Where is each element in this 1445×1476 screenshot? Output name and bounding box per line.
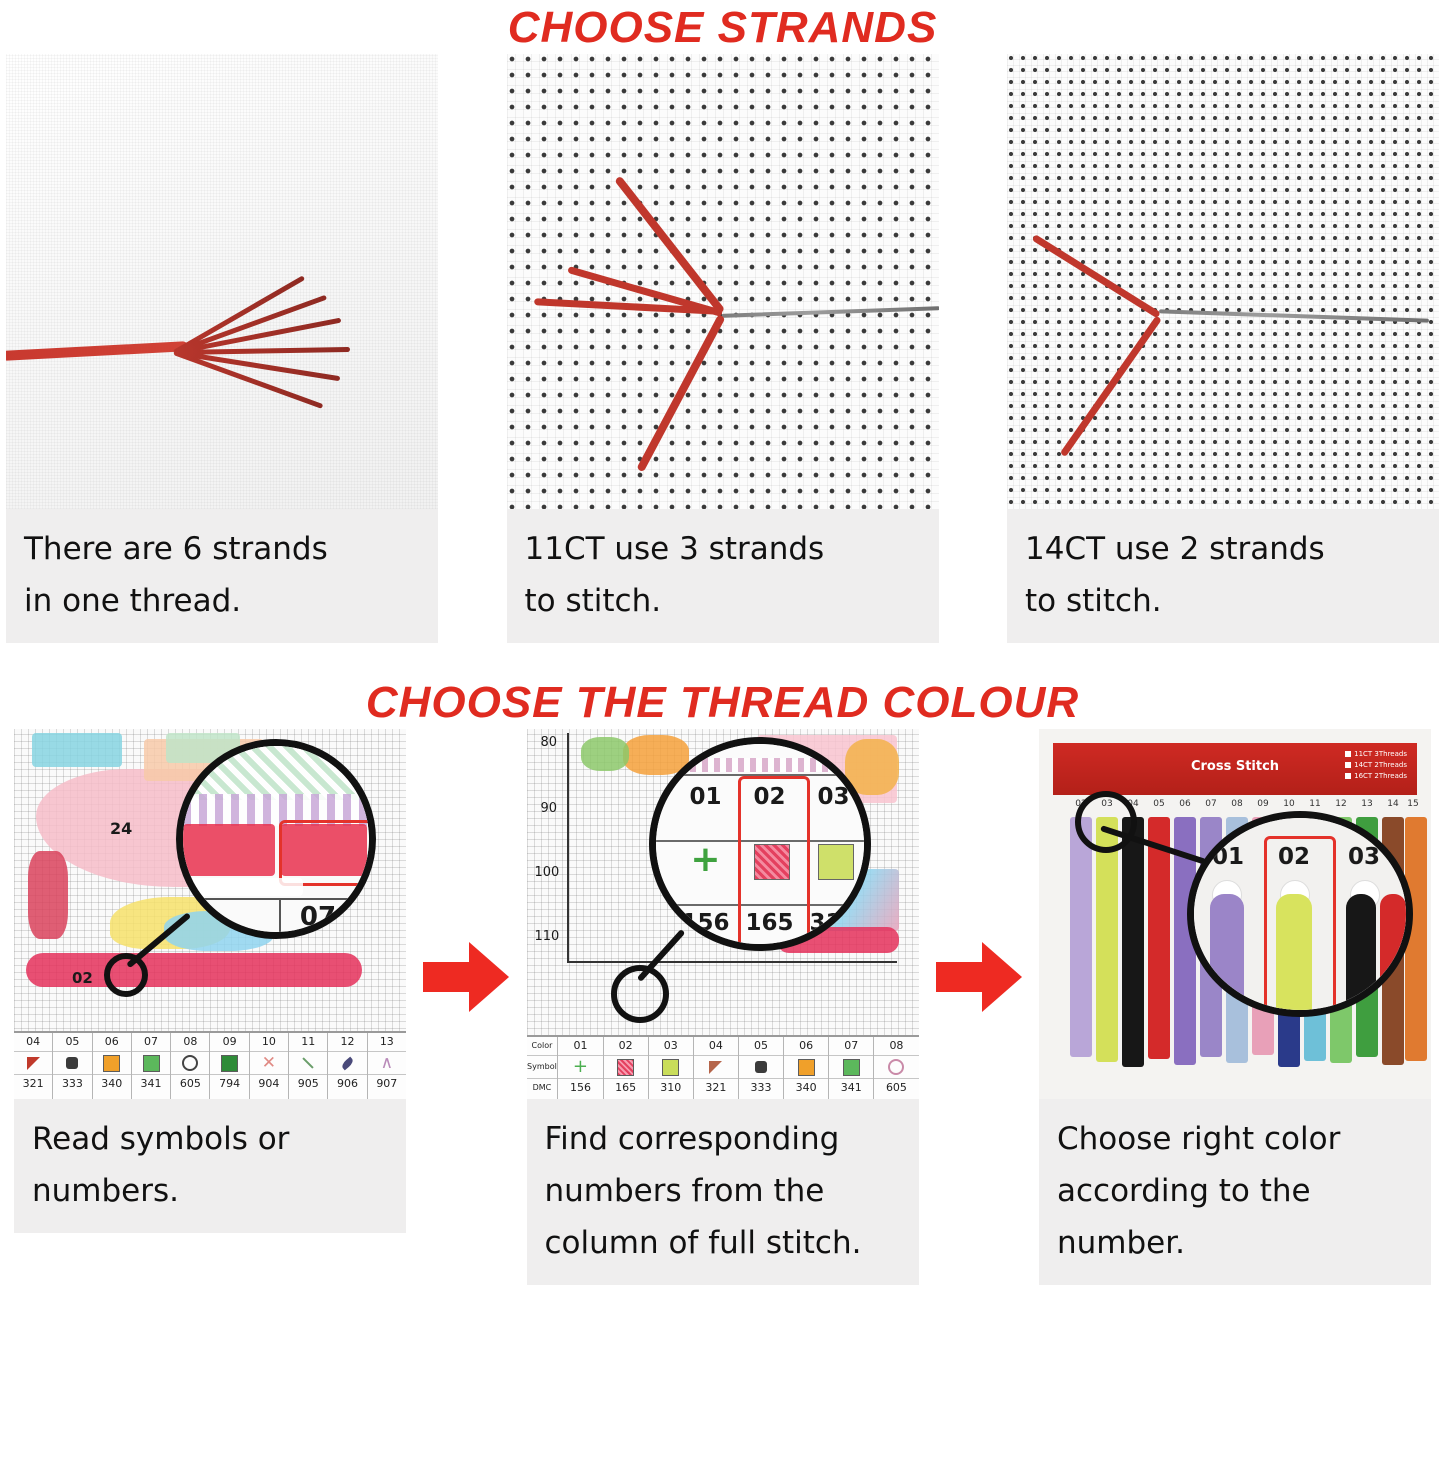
pattern-region-green xyxy=(581,737,629,771)
pattern-chart-symbols-photo: 24 02 07 04 321 xyxy=(14,729,406,1099)
thread-organizer-photo: Cross Stitch 11CT 3Threads 14CT 2Threads… xyxy=(1039,729,1431,1099)
caption-11ct: 11CT use 3 strands to stitch. xyxy=(507,509,939,643)
peg-number: 15 xyxy=(1401,799,1425,809)
legend-symbol-red-square-icon xyxy=(604,1056,648,1079)
chart-marker-02: 02 xyxy=(72,969,93,987)
plain-fabric-texture xyxy=(6,54,438,509)
legend-dmc: 310 xyxy=(649,1079,693,1097)
legend-symbol-triangle-icon xyxy=(694,1056,738,1079)
legend-dmc: 321 xyxy=(694,1079,738,1097)
caption-line-2: numbers from the xyxy=(545,1165,901,1217)
pattern-chart-numbers-photo: 80 90 100 110 01 02 03 + xyxy=(527,729,919,1099)
chart-marker-24: 24 xyxy=(110,819,132,838)
zoom-region-red-left xyxy=(183,824,275,876)
axis-label-90: 90 xyxy=(541,801,558,816)
caption-14ct: 14CT use 2 strands to stitch. xyxy=(1007,509,1439,643)
peg-number: 11 xyxy=(1303,799,1327,809)
legend-number: 13 xyxy=(368,1033,406,1052)
legend-row-label-dmc: DMC xyxy=(527,1079,558,1097)
card-read-symbols: 24 02 07 04 321 xyxy=(14,729,406,1233)
card-choose-colour: Cross Stitch 11CT 3Threads 14CT 2Threads… xyxy=(1039,729,1431,1285)
chart-x-axis xyxy=(567,961,897,963)
legend-column: 08 605 xyxy=(874,1037,918,1099)
legend-symbol-green-cross-icon: + xyxy=(558,1056,602,1079)
pattern-region-cyan xyxy=(32,733,122,767)
thread-skein xyxy=(1070,817,1092,1057)
card-find-numbers: 80 90 100 110 01 02 03 + xyxy=(527,729,919,1285)
peg-number: 05 xyxy=(1147,799,1171,809)
legend-dmc: 165 xyxy=(604,1079,648,1097)
checkbox-icon xyxy=(1345,762,1351,768)
legend-column: 04 321 xyxy=(694,1037,739,1099)
zoom-column-03: 03 xyxy=(806,784,862,810)
legend-column: 10 ✕ 904 xyxy=(250,1033,289,1099)
legend-number: 06 xyxy=(784,1037,828,1056)
legend-dmc: 906 xyxy=(328,1075,366,1093)
card-14ct: 14CT use 2 strands to stitch. xyxy=(1007,54,1439,643)
caption-line-1: 11CT use 3 strands xyxy=(525,523,921,575)
legend-row-label-symbol: Symbol xyxy=(527,1056,558,1079)
checkbox-icon xyxy=(1345,773,1351,779)
legend-dmc: 341 xyxy=(829,1079,873,1097)
peg-number: 07 xyxy=(1199,799,1223,809)
legend-dmc: 333 xyxy=(53,1075,91,1093)
thread-skein xyxy=(1122,817,1144,1067)
magnifier-lens: 01 02 03 xyxy=(1187,811,1413,1017)
card-six-strands: There are 6 strands in one thread. xyxy=(6,54,438,643)
caption-line-1: There are 6 strands xyxy=(24,523,420,575)
caption-find-numbers: Find corresponding numbers from the colu… xyxy=(527,1099,919,1285)
legend-symbol-triangle-icon xyxy=(14,1052,52,1075)
legend-number: 03 xyxy=(649,1037,693,1056)
legend-symbol-x-cross-icon: ✕ xyxy=(250,1052,288,1075)
legend-column: 08 605 xyxy=(171,1033,210,1099)
legend-number: 02 xyxy=(604,1037,648,1056)
legend-symbol-green-square-icon xyxy=(829,1056,873,1079)
legend-symbol-leaf-icon xyxy=(328,1052,366,1075)
legend-number: 06 xyxy=(93,1033,131,1052)
pattern-region-crimson xyxy=(28,851,68,939)
legend-column: 07 341 xyxy=(829,1037,874,1099)
check-label: 16CT 2Threads xyxy=(1354,772,1407,780)
chart-y-axis xyxy=(567,733,569,963)
zoom-dmc-156: 156 xyxy=(678,910,734,936)
legend-column: 06 340 xyxy=(784,1037,829,1099)
legend-column: 04 321 xyxy=(14,1033,53,1099)
zoom-column-03: 03 xyxy=(1338,844,1390,870)
legend-dmc: 904 xyxy=(250,1075,288,1093)
legend-number: 08 xyxy=(171,1033,209,1052)
legend-number: 07 xyxy=(132,1033,170,1052)
card-11ct: 11CT use 3 strands to stitch. xyxy=(507,54,939,643)
zoom-highlight-box xyxy=(279,820,376,886)
caption-read-symbols: Read symbols or numbers. xyxy=(14,1099,406,1233)
legend-symbol-yellow-square-icon xyxy=(649,1056,693,1079)
legend-column: 06 340 xyxy=(93,1033,132,1099)
zoom-symbol-green-cross-icon: + xyxy=(678,842,734,878)
magnifier-lens: 01 02 03 + 156 165 310 xyxy=(649,737,871,951)
legend-symbol-orange-square-icon xyxy=(784,1056,828,1079)
zoom-thread-skein-purple xyxy=(1210,894,1244,1004)
check-label: 11CT 3Threads xyxy=(1354,750,1407,758)
magnifier-focus-circle xyxy=(104,953,148,997)
legend-number: 10 xyxy=(250,1033,288,1052)
peg-number: 06 xyxy=(1173,799,1197,809)
aida-11ct-fabric xyxy=(507,54,939,509)
zoom-column-01: 01 xyxy=(1202,844,1254,870)
legend-column: 07 341 xyxy=(132,1033,171,1099)
legend-dmc: 605 xyxy=(171,1075,209,1093)
caption-line-2: according to the xyxy=(1057,1165,1413,1217)
zoom-region-white-row xyxy=(183,878,303,896)
peg-number: 09 xyxy=(1251,799,1275,809)
legend-dmc: 907 xyxy=(368,1075,406,1093)
caption-six-strands: There are 6 strands in one thread. xyxy=(6,509,438,643)
legend-dmc: 905 xyxy=(289,1075,327,1093)
legend-column: 13 ∧ 907 xyxy=(368,1033,406,1099)
legend-number: 04 xyxy=(14,1033,52,1052)
right-arrow-icon-2 xyxy=(936,942,1022,1012)
legend-symbol-hexagon-icon xyxy=(739,1056,783,1079)
legend-column: 02 165 xyxy=(604,1037,649,1099)
zoom-thread-skein-red xyxy=(1380,894,1406,990)
caption-choose-colour: Choose right color according to the numb… xyxy=(1039,1099,1431,1285)
peg-number: 13 xyxy=(1355,799,1379,809)
caption-line-3: column of full stitch. xyxy=(545,1217,901,1269)
caption-line-3: number. xyxy=(1057,1217,1413,1269)
thread-colour-card-row: 24 02 07 04 321 xyxy=(0,729,1445,1285)
magnifier-lens: 07 xyxy=(176,739,376,939)
zoom-thread-skein-black xyxy=(1346,894,1376,1006)
axis-label-80: 80 xyxy=(541,735,558,750)
legend-dmc: 156 xyxy=(558,1079,602,1097)
caption-line-2: to stitch. xyxy=(1025,575,1421,627)
legend-number: 04 xyxy=(694,1037,738,1056)
zoom-region-lavender-strip xyxy=(666,758,866,772)
legend-symbol-green-square-icon xyxy=(132,1052,170,1075)
check-label: 14CT 2Threads xyxy=(1354,761,1407,769)
section-title-choose-strands: CHOOSE STRANDS xyxy=(0,0,1445,54)
legend-column: 09 794 xyxy=(210,1033,249,1099)
zoom-column-01: 01 xyxy=(678,784,734,810)
legend-symbol-diagonal-line-icon xyxy=(289,1052,327,1075)
legend-dmc: 341 xyxy=(132,1075,170,1093)
legend-column: 01 + 156 xyxy=(558,1037,603,1099)
caption-line-1: Find corresponding xyxy=(545,1113,901,1165)
caption-line-1: 14CT use 2 strands xyxy=(1025,523,1421,575)
legend-dmc: 794 xyxy=(210,1075,248,1093)
right-arrow-icon-1 xyxy=(423,942,509,1012)
legend-number: 11 xyxy=(289,1033,327,1052)
caption-line-2: in one thread. xyxy=(24,575,420,627)
legend-dmc: 605 xyxy=(874,1079,918,1097)
legend-dmc: 321 xyxy=(14,1075,52,1093)
zoom-region-green-hatch xyxy=(183,746,376,800)
caption-line-1: Choose right color xyxy=(1057,1113,1413,1165)
caption-line-1: Read symbols or xyxy=(32,1113,388,1165)
aida-14ct-needle-photo xyxy=(1007,54,1439,509)
six-strand-thread-photo xyxy=(6,54,438,509)
caption-line-2: numbers. xyxy=(32,1165,388,1217)
legend-dmc: 340 xyxy=(784,1079,828,1097)
peg-number: 10 xyxy=(1277,799,1301,809)
legend-table: 04 321 05 333 06 340 07 341 xyxy=(14,1031,406,1099)
peg-number: 12 xyxy=(1329,799,1353,809)
legend-number: 05 xyxy=(53,1033,91,1052)
magnifier-focus-circle xyxy=(1075,791,1137,853)
legend-dmc: 340 xyxy=(93,1075,131,1093)
legend-row-label-color: Color xyxy=(527,1037,558,1056)
legend-number: 09 xyxy=(210,1033,248,1052)
legend-symbol-circle-outline-icon xyxy=(171,1052,209,1075)
zoom-cell-07: 07 xyxy=(293,902,343,932)
legend-column: 03 310 xyxy=(649,1037,694,1099)
axis-label-100: 100 xyxy=(535,865,560,880)
legend-number: 07 xyxy=(829,1037,873,1056)
legend-column: 12 906 xyxy=(328,1033,367,1099)
legend-dmc: 333 xyxy=(739,1079,783,1097)
legend-symbol-orange-square-icon xyxy=(93,1052,131,1075)
legend-column: 05 333 xyxy=(739,1037,784,1099)
legend-column: 11 905 xyxy=(289,1033,328,1099)
peg-number: 08 xyxy=(1225,799,1249,809)
legend-symbol-dark-green-square-icon xyxy=(210,1052,248,1075)
caption-line-2: to stitch. xyxy=(525,575,921,627)
organizer-checklist: 11CT 3Threads 14CT 2Threads 16CT 2Thread… xyxy=(1345,749,1407,782)
zoom-highlight-box xyxy=(738,776,810,950)
legend-table: Color Symbol DMC 01 + 156 02 165 03 xyxy=(527,1035,919,1099)
legend-symbol-caret-icon: ∧ xyxy=(368,1052,406,1075)
magnifier-focus-circle xyxy=(611,965,669,1023)
legend-symbol-hexagon-icon xyxy=(53,1052,91,1075)
section-title-choose-thread-colour: CHOOSE THE THREAD COLOUR xyxy=(0,673,1445,729)
legend-symbol-circle-outline-icon xyxy=(874,1056,918,1079)
zoom-highlight-box xyxy=(1264,836,1336,1014)
axis-label-110: 110 xyxy=(535,929,560,944)
thread-skein xyxy=(1148,817,1170,1059)
thread-skein xyxy=(1096,817,1118,1062)
legend-number: 12 xyxy=(328,1033,366,1052)
legend-number: 01 xyxy=(558,1037,602,1056)
legend-number: 08 xyxy=(874,1037,918,1056)
zoom-symbol-yellow-square-icon xyxy=(818,844,854,880)
legend-column: 05 333 xyxy=(53,1033,92,1099)
legend-number: 05 xyxy=(739,1037,783,1056)
aida-11ct-needle-photo xyxy=(507,54,939,509)
zoom-dmc-310: 310 xyxy=(806,910,862,936)
checkbox-icon xyxy=(1345,751,1351,757)
organizer-header-bar: Cross Stitch 11CT 3Threads 14CT 2Threads… xyxy=(1053,743,1417,795)
legend-row-labels: Color Symbol DMC xyxy=(527,1037,559,1099)
strands-card-row: There are 6 strands in one thread. 11CT … xyxy=(0,54,1445,643)
